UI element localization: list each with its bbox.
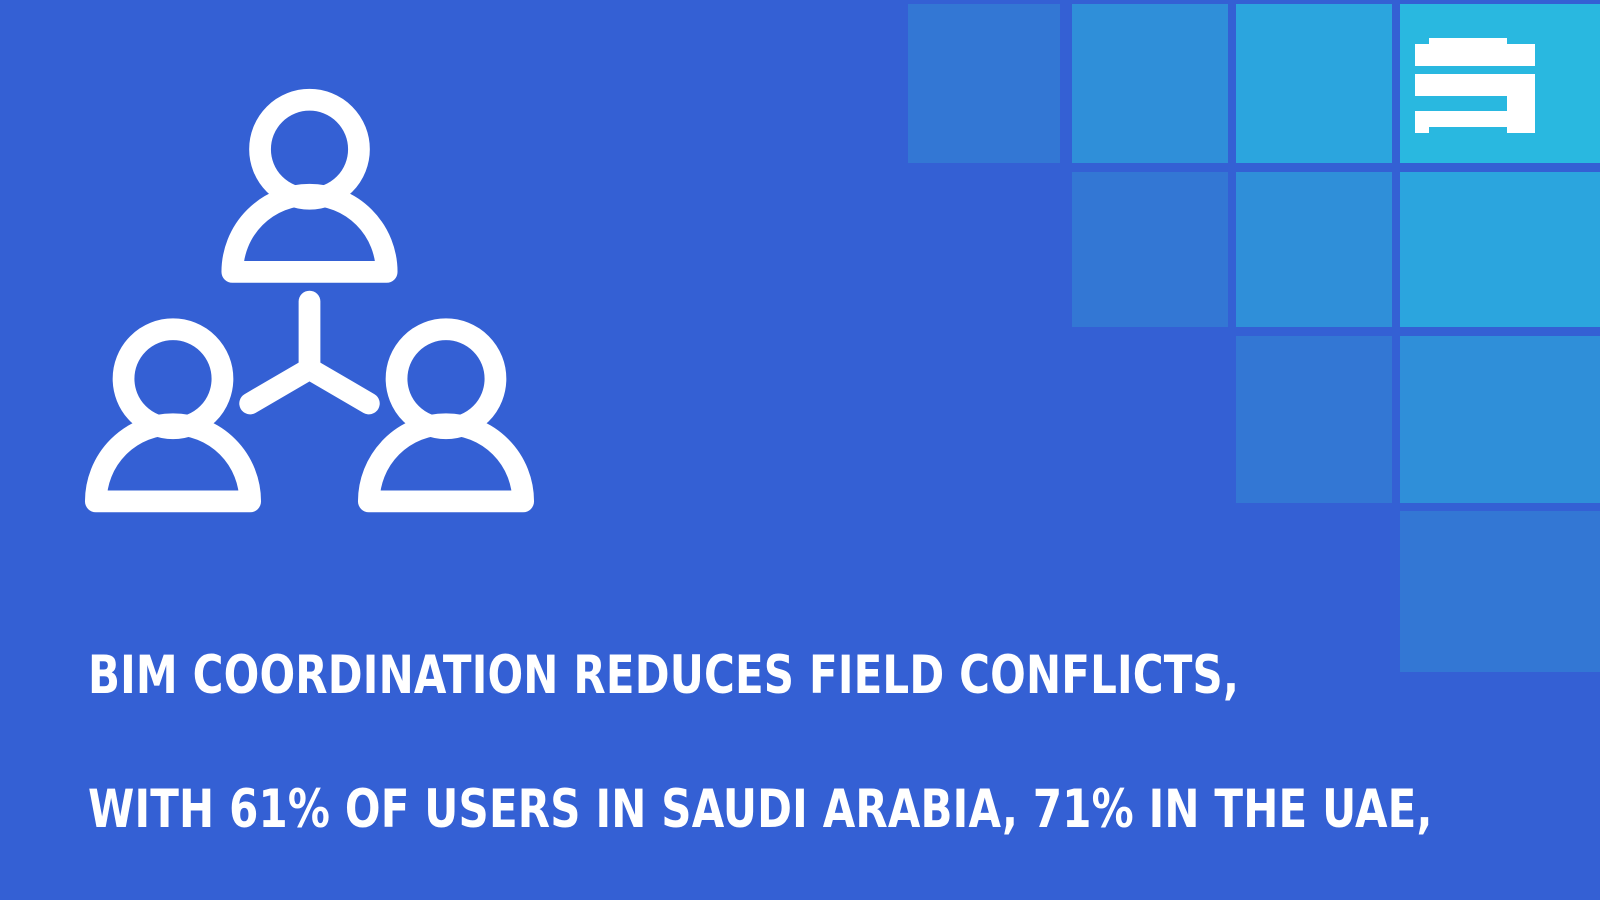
tile-r2c2 <box>1072 172 1228 327</box>
tile-r2c3 <box>1236 172 1392 327</box>
headline-text: BIM COORDINATION REDUCES FIELD CONFLICTS… <box>88 575 1267 900</box>
tile-r1c2 <box>1072 4 1228 163</box>
tile-r3c3 <box>1236 336 1392 503</box>
tile-r4c4 <box>1400 511 1600 672</box>
infographic-canvas: BIM COORDINATION REDUCES FIELD CONFLICTS… <box>0 0 1600 900</box>
brand-logo-mark-icon <box>1415 38 1535 133</box>
team-network-icon <box>82 82 537 537</box>
tile-r3c4 <box>1400 336 1600 503</box>
headline-line-1: BIM COORDINATION REDUCES FIELD CONFLICTS… <box>88 642 1267 709</box>
tile-r1c3 <box>1236 4 1392 163</box>
headline-line-2-text: WITH 61% OF USERS IN SAUDI ARABIA, 71% I… <box>88 779 1433 840</box>
headline-line-2: WITH 61% OF USERS IN SAUDI ARABIA, 71% I… <box>88 776 1267 843</box>
headline-line-1-text: BIM COORDINATION REDUCES FIELD CONFLICTS… <box>88 645 1239 706</box>
tile-r2c4 <box>1400 172 1600 327</box>
tile-r1c1 <box>908 4 1060 163</box>
